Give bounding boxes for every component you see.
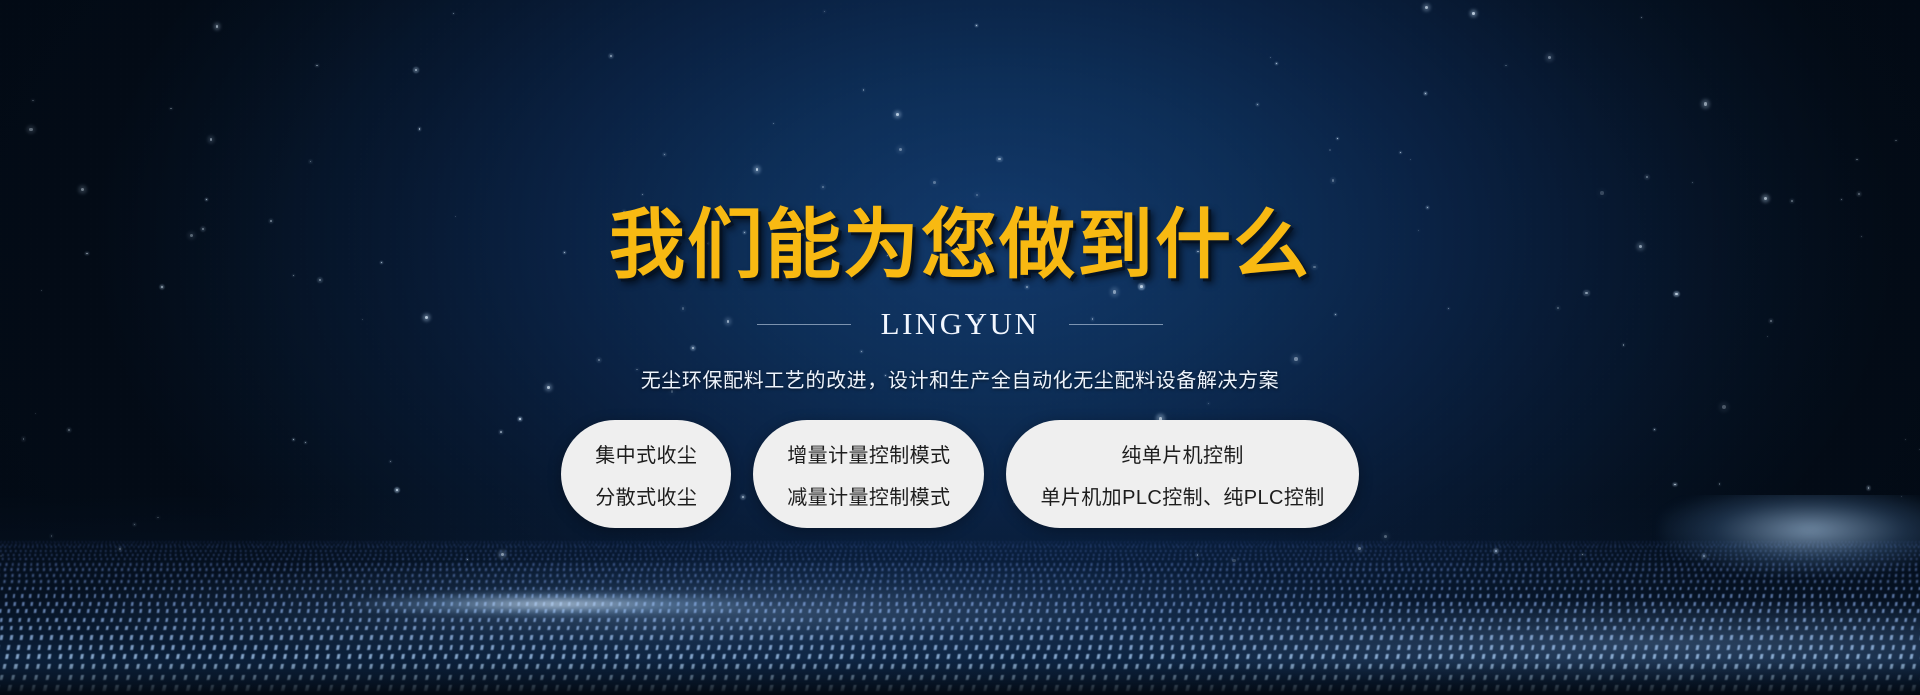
banner-content: 我们能为您做到什么 LINGYUN 无尘环保配料工艺的改进，设计和生产全自动化无… <box>0 0 1920 695</box>
feature-card-line: 分散式收尘 <box>595 481 697 510</box>
feature-card-line: 单片机加PLC控制、纯PLC控制 <box>1040 481 1324 510</box>
feature-card-line: 纯单片机控制 <box>1121 439 1243 468</box>
page-title: 我们能为您做到什么 <box>609 208 1311 284</box>
banner-description: 无尘环保配料工艺的改进，设计和生产全自动化无尘配料设备解决方案 <box>641 364 1280 393</box>
brand-subtitle: LINGYUN <box>881 306 1040 342</box>
feature-card[interactable]: 集中式收尘 分散式收尘 <box>561 420 731 528</box>
feature-card-line: 减量计量控制模式 <box>787 481 950 510</box>
feature-card[interactable]: 增量计量控制模式 减量计量控制模式 <box>753 420 984 528</box>
feature-card-list: 集中式收尘 分散式收尘 增量计量控制模式 减量计量控制模式 纯单片机控制 单片机… <box>561 420 1358 528</box>
subtitle-divider-right <box>1069 324 1163 325</box>
subtitle-divider-left <box>757 324 851 325</box>
feature-card-line: 集中式收尘 <box>595 439 697 468</box>
feature-card[interactable]: 纯单片机控制 单片机加PLC控制、纯PLC控制 <box>1006 420 1358 528</box>
subtitle-row: LINGYUN <box>757 306 1164 342</box>
hero-banner: 我们能为您做到什么 LINGYUN 无尘环保配料工艺的改进，设计和生产全自动化无… <box>0 0 1920 695</box>
feature-card-line: 增量计量控制模式 <box>787 439 950 468</box>
